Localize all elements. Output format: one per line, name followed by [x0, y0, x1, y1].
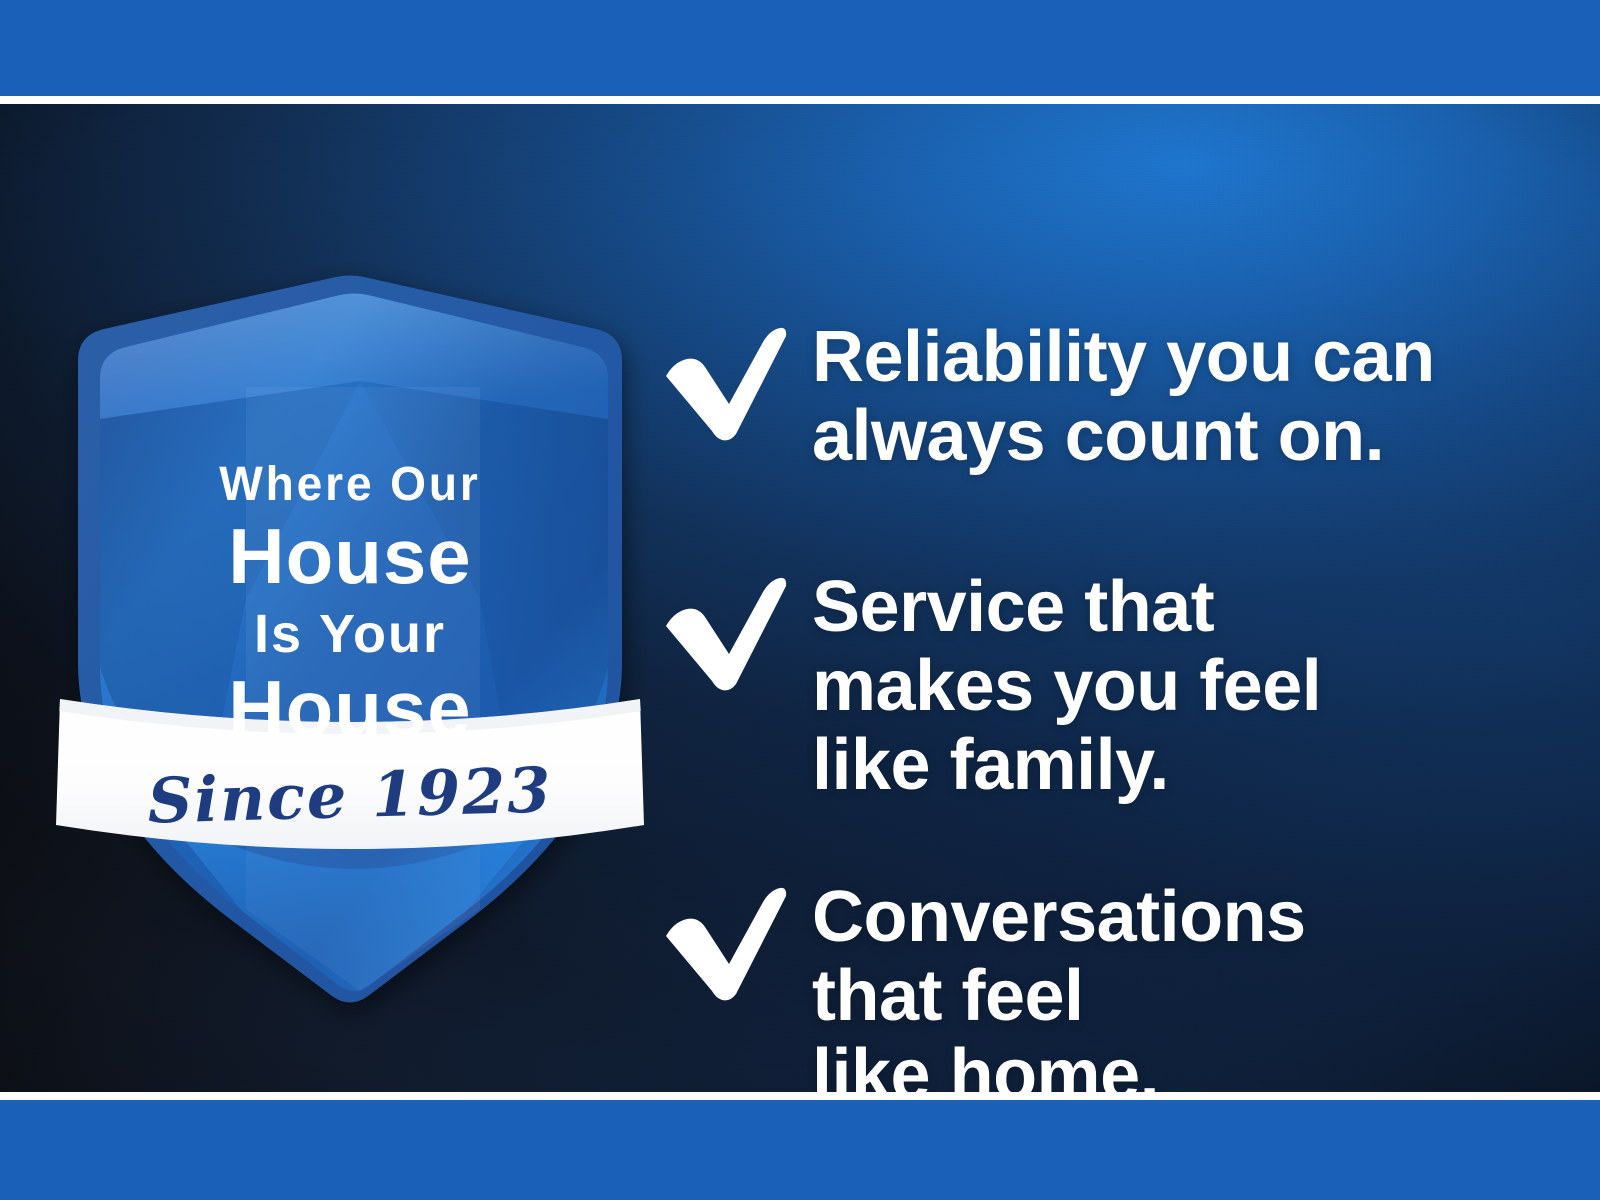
checkmark-icon — [660, 574, 788, 692]
benefit-text-2: Service that makes you feel like family. — [812, 568, 1321, 806]
benefit-item-2: Service that makes you feel like family. — [660, 568, 1321, 806]
promo-poster: Where Our House Is Your House Since 1923… — [0, 0, 1600, 1200]
badge-line-where: Where Our — [62, 461, 638, 509]
badge-line-isyour: Is Your — [50, 607, 650, 661]
shield-badge: Where Our House Is Your House Since 1923 — [50, 269, 650, 949]
badge-line-house-1: House — [50, 517, 650, 595]
checkmark-icon — [660, 324, 788, 442]
benefit-item-3: Conversations that feel like home. — [660, 878, 1306, 1092]
checkmark-icon — [660, 884, 788, 1002]
top-brand-bar — [0, 0, 1600, 96]
main-stage: Where Our House Is Your House Since 1923… — [0, 104, 1600, 1092]
bottom-brand-bar — [0, 1100, 1600, 1200]
badge-line-house-2: House — [50, 669, 650, 747]
benefit-text-1: Reliability you can always count on. — [812, 318, 1435, 476]
benefits-list: Reliability you can always count on. Ser… — [660, 208, 1560, 1092]
benefit-item-1: Reliability you can always count on. — [660, 318, 1435, 476]
benefit-text-3: Conversations that feel like home. — [812, 878, 1306, 1092]
